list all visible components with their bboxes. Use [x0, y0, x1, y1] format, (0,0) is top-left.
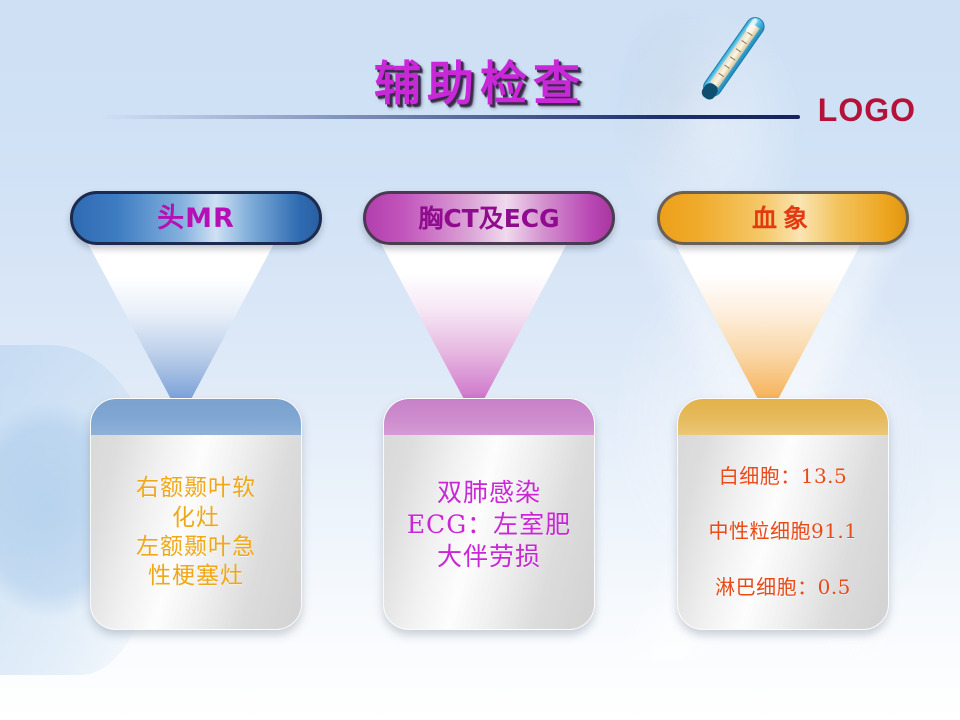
card-line: 中性粒细胞91.1 [708, 519, 857, 545]
header-pill-label: 胸CT及ECG [418, 206, 559, 231]
card-band [91, 399, 301, 435]
card-line: 右额颞叶软 [136, 474, 256, 503]
funnel-column-2 [378, 238, 570, 418]
card-line: 左额颞叶急 [136, 533, 256, 562]
thermometer-icon [676, 6, 786, 116]
funnel-column-3 [672, 238, 864, 418]
card-band [678, 399, 888, 435]
page-title: 辅助检查 [0, 45, 960, 114]
card-body: 右额颞叶软 化灶 左额颞叶急 性梗塞灶 [91, 435, 301, 630]
content-card-head-mr[interactable]: 右额颞叶软 化灶 左额颞叶急 性梗塞灶 [90, 398, 302, 630]
header-pill-blood-panel[interactable]: 血象 [657, 191, 909, 245]
card-line: 大伴劳损 [437, 541, 541, 573]
header-pill-label: 头MR [157, 205, 235, 232]
card-line: 淋巴细胞：0.5 [715, 575, 851, 601]
header-pill-label: 血象 [752, 206, 814, 231]
header-pill-chest-ct-ecg[interactable]: 胸CT及ECG [363, 191, 615, 245]
card-line: 白细胞：13.5 [719, 464, 848, 490]
header-pill-head-mr[interactable]: 头MR [70, 191, 322, 245]
content-card-blood-panel[interactable]: 白细胞：13.5 中性粒细胞91.1 淋巴细胞：0.5 [677, 398, 889, 630]
card-line: 化灶 [172, 504, 220, 533]
funnel-column-1 [85, 238, 277, 418]
card-line: ECG：左室肥 [407, 509, 571, 541]
card-body: 双肺感染 ECG：左室肥 大伴劳损 [384, 435, 594, 630]
content-card-chest-ct-ecg[interactable]: 双肺感染 ECG：左室肥 大伴劳损 [383, 398, 595, 630]
card-line: 性梗塞灶 [148, 562, 244, 591]
card-body: 白细胞：13.5 中性粒细胞91.1 淋巴细胞：0.5 [678, 435, 888, 630]
slide-canvas: 辅助检查 LOGO [0, 0, 960, 720]
logo-text: LOGO [818, 92, 916, 129]
card-line: 双肺感染 [437, 477, 541, 509]
card-band [384, 399, 594, 435]
